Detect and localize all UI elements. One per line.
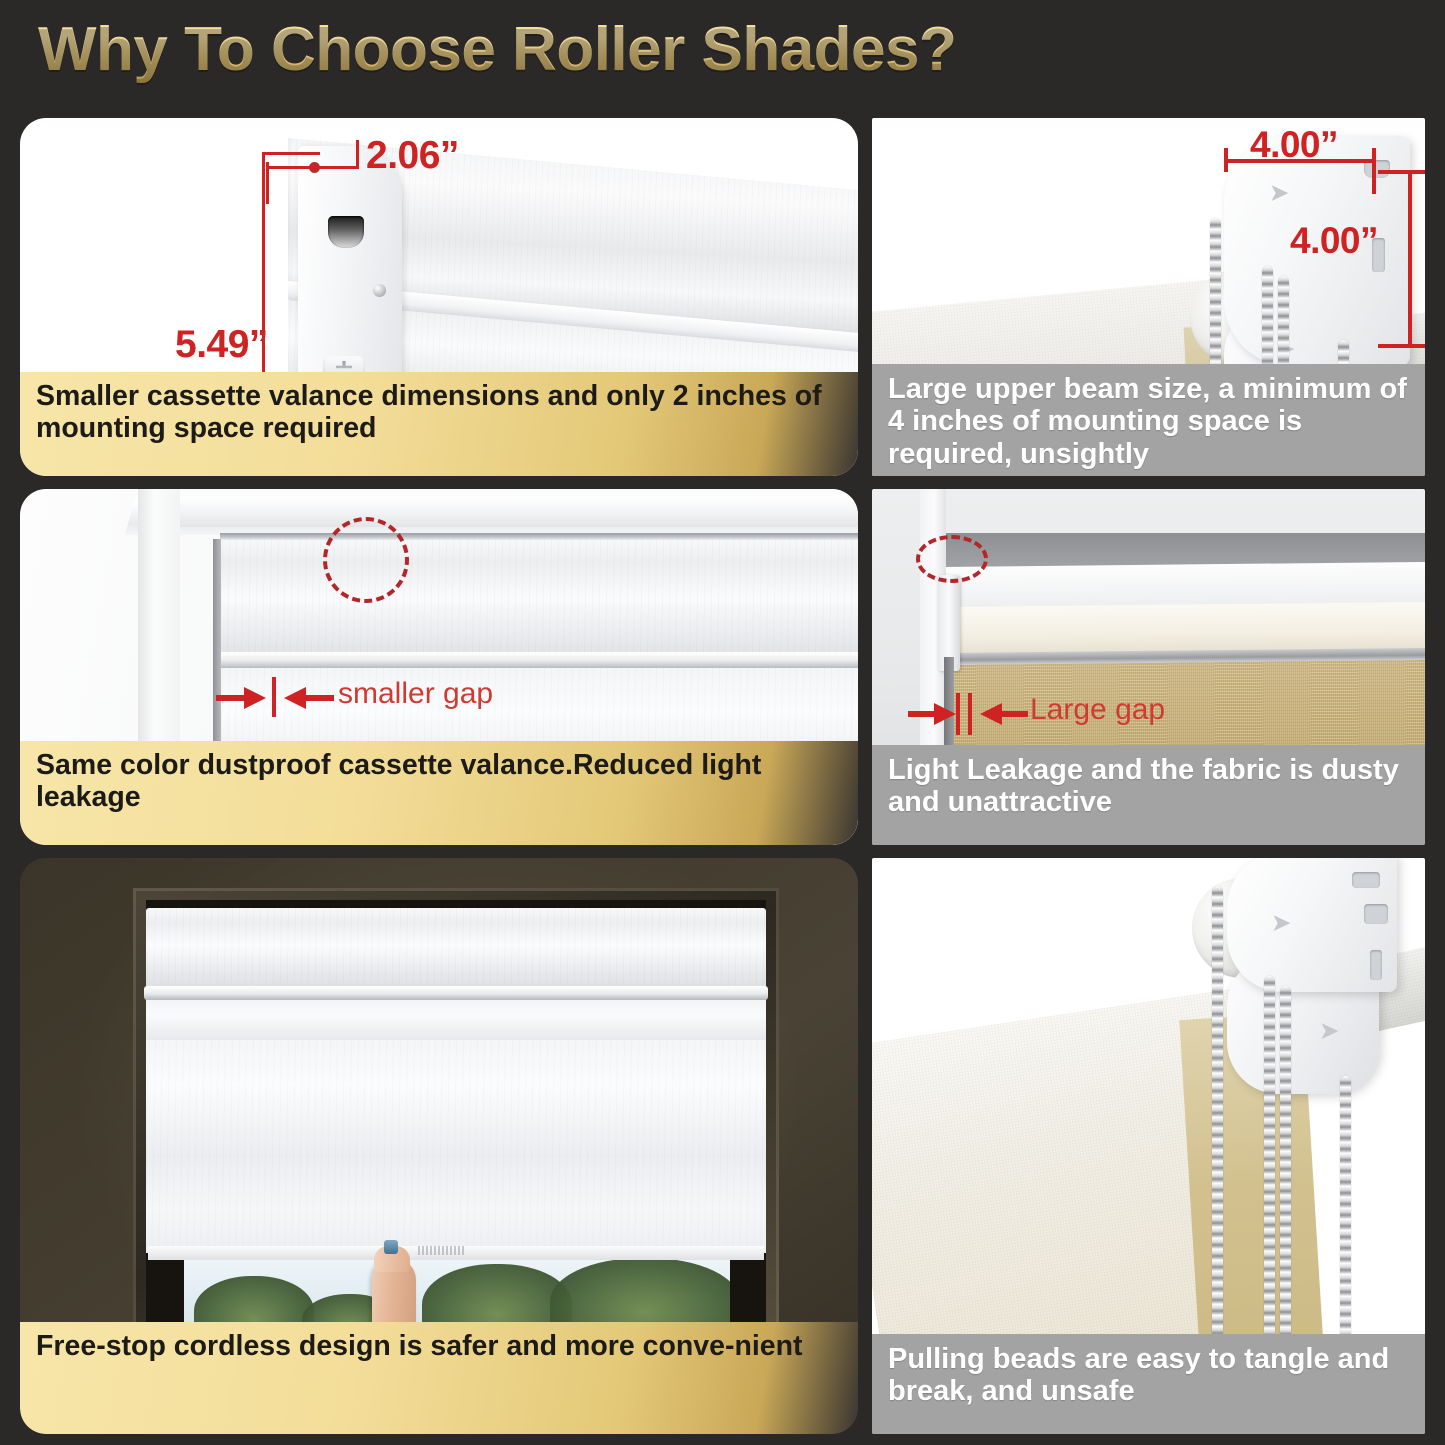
dim-tick-beam-height-top — [1378, 170, 1425, 174]
window-head-molding-inner — [170, 497, 858, 527]
bracket-arrow-icon-top: ➤ — [1270, 180, 1288, 206]
brand-logo — [418, 1246, 466, 1255]
cassette-valance-top — [146, 908, 766, 990]
title-bar: Why To Choose Roller Shades? — [0, 0, 1445, 108]
caption-panel-3: Same color dustproof cassette valance.Re… — [20, 741, 858, 845]
panel-large-upper-beam: ➤ ➤ 4.00” 4.00” Large upper beam size, a… — [872, 118, 1425, 476]
cassette-valance-lip — [144, 986, 768, 1000]
dim-tick-width — [266, 166, 359, 169]
end-cap-slot-icon — [328, 216, 364, 248]
dim-tick-beam-height-bottom — [1378, 344, 1425, 348]
panel-smaller-cassette-valance: 5.49” 2.06” Smaller cassette valance dim… — [20, 118, 858, 476]
bracket-arrow-icon-bottom: ➤ — [1320, 1018, 1338, 1044]
dashed-ellipse-highlight-icon — [916, 535, 988, 583]
panel-dustproof-cassette-valance: smaller gap Same color dustproof cassett… — [20, 489, 858, 845]
caption-panel-2: Large upper beam size, a minimum of 4 in… — [872, 364, 1425, 476]
page-title: Why To Choose Roller Shades? — [38, 14, 956, 85]
bracket-screw-slot-icon — [1370, 950, 1382, 980]
bracket-hook-slot-icon — [1352, 872, 1380, 888]
bracket-arrow-icon-top: ➤ — [1272, 910, 1290, 936]
cassette-valance-bottom-lip — [220, 652, 858, 668]
gap-arrow-left-icon — [908, 701, 960, 727]
shade-fabric-panel — [146, 1038, 766, 1253]
gap-label-smaller: smaller gap — [338, 677, 493, 711]
gap-marker-bar-b — [968, 693, 972, 735]
dim-vline-beam-height — [1408, 170, 1412, 346]
dim-vline-beam-width-right — [1372, 148, 1376, 194]
bracket-hook-slot-icon-2 — [1364, 904, 1388, 924]
cassette-valance-face — [220, 539, 858, 657]
dim-vline-width-right — [356, 140, 359, 168]
caption-panel-5: Free-stop cordless design is safer and m… — [20, 1322, 858, 1434]
cassette-valance-second-band — [146, 998, 766, 1040]
dim-vline-beam-width-left — [1224, 148, 1228, 172]
gap-arrow-left-icon — [216, 685, 270, 711]
panel-pulling-beads-unsafe: ➤ ➤ Pulling beads are easy to tangle and… — [872, 858, 1425, 1434]
dimension-label-beam-height: 4.00” — [1290, 220, 1378, 262]
gap-label-large: Large gap — [1030, 693, 1165, 727]
exposed-valance-band — [944, 602, 1425, 655]
valance-top-seam — [220, 533, 858, 540]
dimension-label-beam-width: 4.00” — [1250, 124, 1338, 166]
panel-free-stop-cordless: Free-stop cordless design is safer and m… — [20, 858, 858, 1434]
gap-arrow-right-icon — [976, 701, 1028, 727]
caption-panel-4: Light Leakage and the fabric is dusty an… — [872, 745, 1425, 845]
caption-panel-6: Pulling beads are easy to tangle and bre… — [872, 1334, 1425, 1434]
dashed-circle-highlight-icon — [323, 517, 409, 603]
dimension-label-width: 2.06” — [366, 134, 459, 178]
gap-marker-bar — [272, 677, 276, 717]
panel-light-leakage: Large gap Light Leakage and the fabric i… — [872, 489, 1425, 845]
dim-tick-height-top — [262, 152, 320, 155]
dimension-label-height: 5.49” — [175, 323, 268, 367]
gap-marker-bar-a — [956, 693, 960, 735]
caption-panel-1: Smaller cassette valance dimensions and … — [20, 372, 858, 476]
end-cap-screw-icon — [373, 284, 386, 297]
shade-pull-handle[interactable] — [384, 1240, 398, 1254]
gap-arrow-right-icon — [280, 685, 334, 711]
